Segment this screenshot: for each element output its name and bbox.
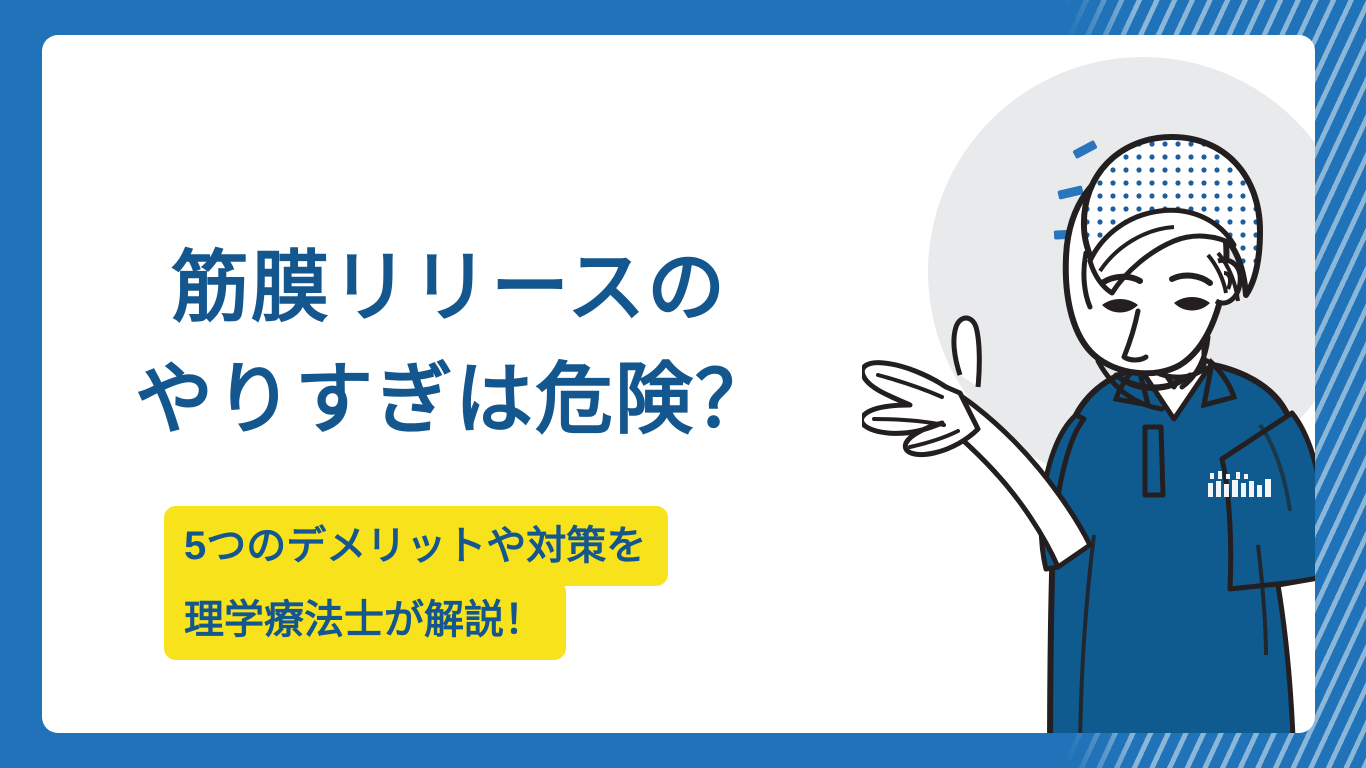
therapist-illustration: [862, 75, 1315, 733]
page-title: 筋膜リリースの やりすぎは危険？: [135, 231, 955, 455]
white-content-card: 筋膜リリースの やりすぎは危険？ 5つのデメリットや対策を 理学療法士が解説！: [42, 35, 1315, 733]
page-subtitle-line-2: 理学療法士が解説！: [164, 580, 566, 660]
page-subtitle: 5つのデメリットや対策を 理学療法士が解説！: [164, 506, 924, 660]
page-subtitle-line-1: 5つのデメリットや対策を: [164, 506, 668, 586]
page-title-line-2: やりすぎは危険？: [135, 343, 955, 455]
page-title-line-1: 筋膜リリースの: [135, 231, 955, 343]
title-card-canvas: 筋膜リリースの やりすぎは危険？ 5つのデメリットや対策を 理学療法士が解説！: [0, 0, 1366, 768]
